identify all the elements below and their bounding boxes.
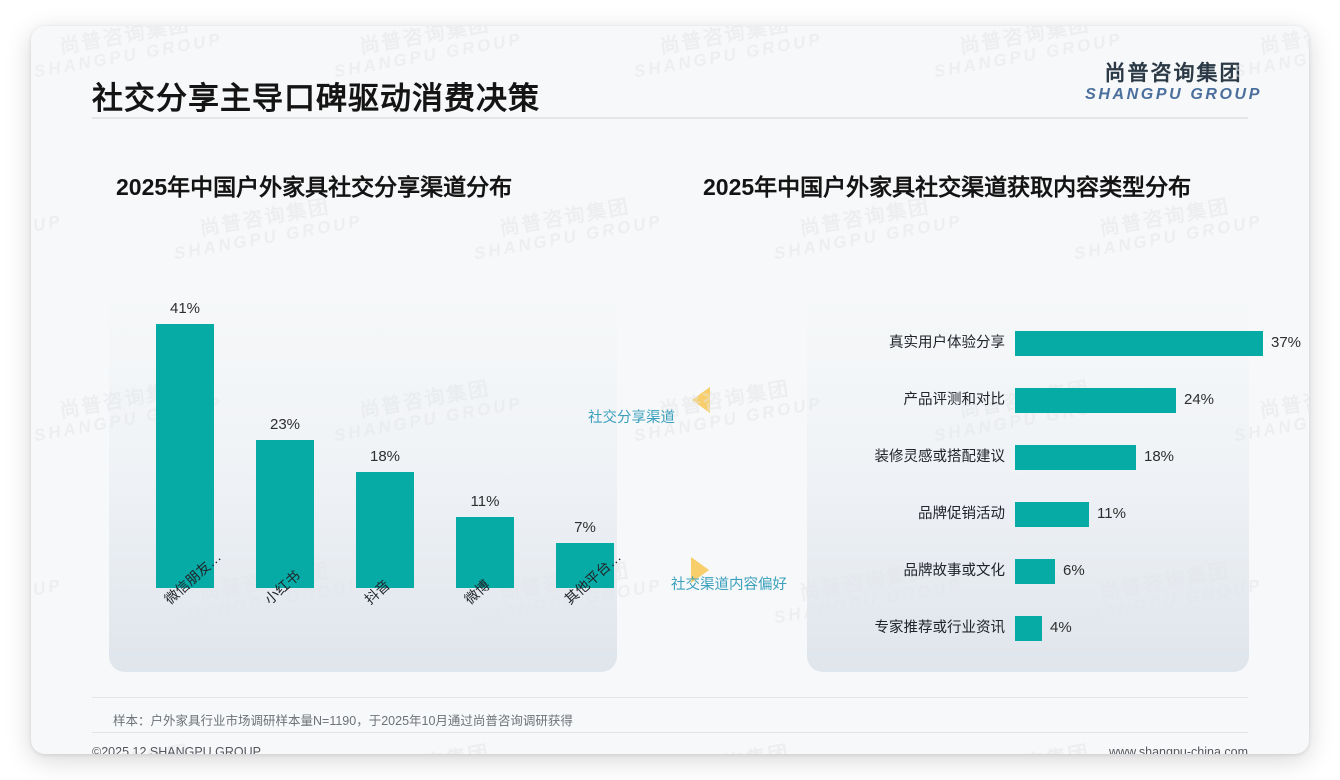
page-title: 社交分享主导口碑驱动消费决策 — [92, 73, 540, 118]
bar-row: 产品评测和对比24% — [807, 383, 1249, 417]
bar[interactable] — [1015, 616, 1042, 641]
bar-value-label: 11% — [1097, 497, 1126, 531]
bar[interactable] — [1015, 445, 1136, 470]
bar-value-label: 23% — [256, 416, 314, 433]
watermark-mark: 尚普咨询集团SHANGPU GROUP — [769, 192, 964, 263]
slide-header: 社交分享主导口碑驱动消费决策 尚普咨询集团 SHANGPU GROUP — [31, 26, 1309, 118]
logo-english-text: SHANGPU GROUP — [1085, 86, 1262, 104]
y-axis-tick-label: 装修灵感或搭配建议 — [807, 440, 1005, 474]
bar-column: 23% — [256, 440, 314, 588]
bar[interactable] — [1015, 559, 1055, 584]
y-axis-tick-label: 真实用户体验分享 — [807, 326, 1005, 360]
bar[interactable] — [1015, 331, 1263, 356]
watermark-chinese-text: 尚普咨询集团 — [31, 192, 61, 246]
left-arrow-icon — [692, 387, 710, 413]
watermark-english-text: SHANGPU GROUP — [1073, 212, 1264, 263]
bar-row: 品牌故事或文化6% — [807, 554, 1249, 588]
logo-chinese-text: 尚普咨询集团 — [1085, 62, 1262, 86]
watermark-english-text: SHANGPU GROUP — [473, 212, 664, 263]
brand-logo: 尚普咨询集团 SHANGPU GROUP — [1085, 62, 1262, 103]
vertical-bar-chart: 41%微信朋友…23%小红书18%抖音11%微博7%其他平台… — [109, 288, 617, 672]
horizontal-bar-chart: 真实用户体验分享37%产品评测和对比24%装修灵感或搭配建议18%品牌促销活动1… — [807, 288, 1249, 672]
watermark-mark: 尚普咨询集团SHANGPU GROUP — [629, 738, 824, 754]
watermark-chinese-text: 尚普咨询集团 — [329, 738, 521, 754]
y-axis-tick-label: 品牌故事或文化 — [807, 554, 1005, 588]
annotation-social-share-channel: 社交分享渠道 — [588, 406, 675, 427]
bar-column: 18% — [356, 472, 414, 588]
footnote-divider — [92, 697, 1248, 698]
watermark-mark: 尚普咨询集团SHANGPU GROUP — [329, 738, 524, 754]
bar-value-label: 4% — [1050, 611, 1072, 645]
bar[interactable] — [1015, 388, 1176, 413]
sample-footnote: 样本：户外家具行业市场调研样本量N=1190，于2025年10月通过尚普咨询调研… — [113, 710, 573, 729]
watermark-mark: 尚普咨询集团SHANGPU GROUP — [31, 556, 64, 627]
watermark-mark: 尚普咨询集团SHANGPU GROUP — [1069, 192, 1264, 263]
footer-divider — [92, 732, 1248, 733]
bar[interactable] — [156, 324, 214, 588]
bar-value-label: 18% — [1144, 440, 1174, 474]
y-axis-tick-label: 品牌促销活动 — [807, 497, 1005, 531]
watermark-mark: 尚普咨询集团SHANGPU GROUP — [169, 192, 364, 263]
chart-title-right: 2025年中国户外家具社交渠道获取内容类型分布 — [703, 168, 1191, 202]
bar[interactable] — [456, 517, 514, 588]
bar[interactable] — [1015, 502, 1089, 527]
bar-value-label: 41% — [156, 300, 214, 317]
bar-row: 品牌促销活动11% — [807, 497, 1249, 531]
bar-value-label: 24% — [1184, 383, 1214, 417]
annotation-content-preference: 社交渠道内容偏好 — [671, 573, 787, 594]
bar[interactable] — [256, 440, 314, 588]
bar-row: 装修灵感或搭配建议18% — [807, 440, 1249, 474]
watermark-english-text: SHANGPU GROUP — [773, 212, 964, 263]
bar-row: 专家推荐或行业资讯4% — [807, 611, 1249, 645]
chart-title-left: 2025年中国户外家具社交分享渠道分布 — [116, 168, 512, 202]
bar-value-label: 18% — [356, 448, 414, 465]
footer-copyright: ©2025.12 SHANGPU GROUP — [92, 745, 261, 754]
watermark-mark: 尚普咨询集团SHANGPU GROUP — [31, 192, 64, 263]
watermark-chinese-text: 尚普咨询集团 — [31, 556, 61, 610]
watermark-english-text: SHANGPU GROUP — [31, 212, 64, 263]
bar-value-label: 11% — [456, 493, 514, 510]
footer-website[interactable]: www.shangpu-china.com — [1109, 745, 1248, 754]
y-axis-tick-label: 产品评测和对比 — [807, 383, 1005, 417]
bar-row: 真实用户体验分享37% — [807, 326, 1249, 360]
bar-value-label: 7% — [556, 519, 614, 536]
header-divider — [92, 117, 1248, 119]
watermark-english-text: SHANGPU GROUP — [173, 212, 364, 263]
watermark-english-text: SHANGPU GROUP — [31, 576, 64, 627]
bar-column: 11% — [456, 517, 514, 588]
watermark-chinese-text: 尚普咨询集团 — [629, 738, 821, 754]
y-axis-tick-label: 专家推荐或行业资讯 — [807, 611, 1005, 645]
watermark-chinese-text: 尚普咨询集团 — [929, 738, 1121, 754]
bar[interactable] — [356, 472, 414, 588]
watermark-mark: 尚普咨询集团SHANGPU GROUP — [469, 192, 664, 263]
bar-value-label: 6% — [1063, 554, 1085, 588]
bar-value-label: 37% — [1271, 326, 1301, 360]
bar-column: 41% — [156, 324, 214, 588]
slide-canvas: 社交分享主导口碑驱动消费决策 尚普咨询集团 SHANGPU GROUP 2025… — [31, 26, 1309, 754]
watermark-mark: 尚普咨询集团SHANGPU GROUP — [929, 738, 1124, 754]
